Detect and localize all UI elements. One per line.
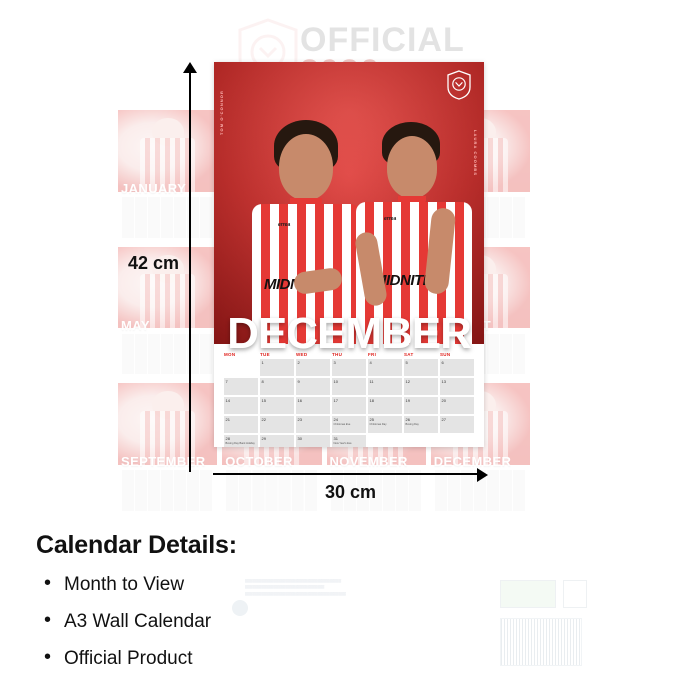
day-cell: 16 <box>296 397 330 414</box>
background-month-label: JANUARY <box>121 181 214 196</box>
kit-brand-right: errea <box>384 216 396 222</box>
day-cell: 4 <box>368 359 402 376</box>
day-cell: 5 <box>404 359 438 376</box>
day-number: 21 <box>226 417 230 422</box>
day-number: 15 <box>262 398 266 403</box>
day-holiday-note: Christmas Eve <box>334 424 366 427</box>
day-cell: 29 <box>260 435 294 447</box>
background-month-label: MAY <box>121 318 214 333</box>
width-label: 30 cm <box>325 482 376 503</box>
background-month-label: SEPTEMBER <box>121 454 214 469</box>
background-page-grid <box>226 470 317 511</box>
calendar-front-cover: TOM O'CONNOR LAURA COOMBS errea MIDNITE <box>214 62 484 447</box>
day-cell: 8 <box>260 378 294 395</box>
width-arrow-line <box>213 473 479 475</box>
cover-month-grid: MONTUEWEDTHUFRISATSUN 123456789101112131… <box>224 352 474 439</box>
details-heading: Calendar Details: <box>36 531 237 560</box>
day-cell: 6 <box>440 359 474 376</box>
day-holiday-note: New Year's Eve <box>334 443 366 446</box>
details-list-item: Month to View <box>36 574 237 596</box>
background-page-photo <box>118 383 217 465</box>
background-month-label: OCTOBER <box>225 454 318 469</box>
player-left-name: TOM O'CONNOR <box>219 90 224 135</box>
day-holiday-note: Boxing Day <box>406 424 438 427</box>
cover-month-title: DECEMBER <box>218 312 480 356</box>
day-cell: 28Boxing Day Bank Holiday <box>224 435 258 447</box>
day-cell: 11 <box>368 378 402 395</box>
day-cell: 21 <box>224 416 258 433</box>
day-number: 16 <box>298 398 302 403</box>
day-number: 30 <box>298 436 302 441</box>
day-cell: 24Christmas Eve <box>332 416 366 433</box>
day-number: 3 <box>334 360 336 365</box>
day-number: 19 <box>406 398 410 403</box>
day-cell: 20 <box>440 397 474 414</box>
background-month-page: JANUARY <box>118 110 217 242</box>
day-cell: 26Boxing Day <box>404 416 438 433</box>
day-number: 4 <box>370 360 372 365</box>
day-number: 29 <box>262 436 266 441</box>
details-list-item: A3 Wall Calendar <box>36 611 237 633</box>
day-cell: 17 <box>332 397 366 414</box>
background-page-photo <box>118 110 217 192</box>
day-cell: 25Christmas Day <box>368 416 402 433</box>
day-cell: 31New Year's Eve <box>332 435 366 447</box>
background-month-label: NOVEMBER <box>330 454 423 469</box>
official-label: OFFICIAL <box>300 24 465 56</box>
day-cell: 22 <box>260 416 294 433</box>
day-number: 20 <box>442 398 446 403</box>
head-left <box>279 134 333 200</box>
background-page-grid <box>122 334 213 375</box>
day-cell: 3 <box>332 359 366 376</box>
cover-photo: TOM O'CONNOR LAURA COOMBS errea MIDNITE <box>214 62 484 344</box>
barcode-ghost <box>500 618 582 666</box>
day-cell: 9 <box>296 378 330 395</box>
day-number: 31 <box>334 436 338 441</box>
calendar-details-block: Calendar Details: Month to ViewA3 Wall C… <box>36 531 237 685</box>
background-page-grid <box>122 197 213 238</box>
background-page-grid <box>122 470 213 511</box>
day-number: 5 <box>406 360 408 365</box>
recycling-label-icon <box>500 580 556 608</box>
day-number: 12 <box>406 379 410 384</box>
day-number: 18 <box>370 398 374 403</box>
day-number: 9 <box>298 379 300 384</box>
back-cover-fineprint: ▒▒▒▒▒▒▒▒▒▒▒▒▒▒▒▒▒▒▒▒▒▒▒▒▒▒▒▒▒▒▒▒▒▒▒▒▒▒▒▒… <box>245 578 475 597</box>
day-number: 1 <box>262 360 264 365</box>
day-holiday-note: Christmas Day <box>370 424 402 427</box>
recycling-symbol-icon <box>563 580 587 608</box>
day-number: 28 <box>226 436 230 441</box>
day-number: 7 <box>226 379 228 384</box>
day-number: 13 <box>442 379 446 384</box>
day-cell: 23 <box>296 416 330 433</box>
height-arrow-line <box>189 68 191 472</box>
head-right <box>387 136 437 198</box>
day-number: 8 <box>262 379 264 384</box>
kit-brand-left: errea <box>278 222 290 228</box>
day-number: 2 <box>298 360 300 365</box>
day-cell: 1 <box>260 359 294 376</box>
day-number: 22 <box>262 417 266 422</box>
width-arrow-head <box>477 468 488 482</box>
day-number: 11 <box>370 379 374 384</box>
day-cell: 14 <box>224 397 258 414</box>
day-cell: 10 <box>332 378 366 395</box>
day-cell: 27 <box>440 416 474 433</box>
details-list-item: Official Product <box>36 648 237 670</box>
day-number: 24 <box>334 417 338 422</box>
height-label: 42 cm <box>128 253 179 274</box>
day-holiday-note: Boxing Day Bank Holiday <box>226 443 258 446</box>
day-number: 10 <box>334 379 338 384</box>
product-image-canvas: JANUARYFEBRUARYMARCHAPRILMAYJUNEJULYAUGU… <box>0 0 700 700</box>
day-cell: 18 <box>368 397 402 414</box>
details-list: Month to ViewA3 Wall CalendarOfficial Pr… <box>36 574 237 670</box>
day-number: 6 <box>442 360 444 365</box>
day-cell: 30 <box>296 435 330 447</box>
day-cell: 13 <box>440 378 474 395</box>
day-number: 25 <box>370 417 374 422</box>
day-cell-empty <box>224 359 258 376</box>
day-number: 23 <box>298 417 302 422</box>
day-number: 14 <box>226 398 230 403</box>
day-cell: 19 <box>404 397 438 414</box>
day-cell: 2 <box>296 359 330 376</box>
day-number: 17 <box>334 398 338 403</box>
day-cells-grid: 123456789101112131415161718192021222324C… <box>224 359 474 447</box>
day-cell: 7 <box>224 378 258 395</box>
day-number: 26 <box>406 417 410 422</box>
day-number: 27 <box>442 417 446 422</box>
day-cell: 12 <box>404 378 438 395</box>
background-month-page: SEPTEMBER <box>118 383 217 515</box>
day-cell: 15 <box>260 397 294 414</box>
sheffield-united-crest-icon <box>446 70 472 100</box>
